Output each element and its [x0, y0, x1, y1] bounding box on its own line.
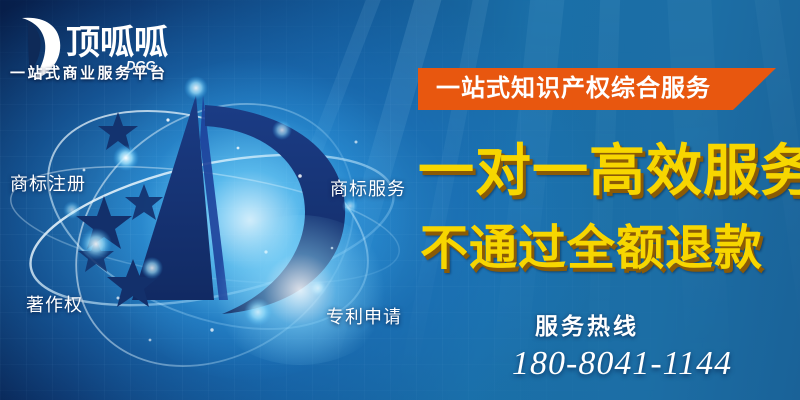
service-label-trademark-registration[interactable]: 商标注册	[10, 170, 86, 196]
headline-secondary: 不通过全额退款	[420, 225, 763, 273]
logo-tagline: 一站式商业服务平台	[10, 62, 168, 83]
service-label-patent-application[interactable]: 专利申请	[326, 303, 402, 329]
ribbon-banner: 一站式知识产权综合服务	[418, 68, 776, 110]
logo-name-cn: 顶呱呱	[66, 24, 168, 62]
headline-primary: 一对一高效服务	[418, 143, 800, 199]
hotline-label: 服务热线	[535, 307, 639, 341]
promo-banner: 顶呱呱 DGG 一站式商业服务平台 商标注册 著作权 商标服务 专利申请 一站式…	[0, 0, 800, 400]
service-label-trademark-service[interactable]: 商标服务	[330, 175, 406, 201]
service-label-copyright[interactable]: 著作权	[26, 291, 83, 317]
hotline-number[interactable]: 180-8041-1144	[512, 345, 732, 383]
ribbon-text: 一站式知识产权综合服务	[436, 68, 711, 110]
